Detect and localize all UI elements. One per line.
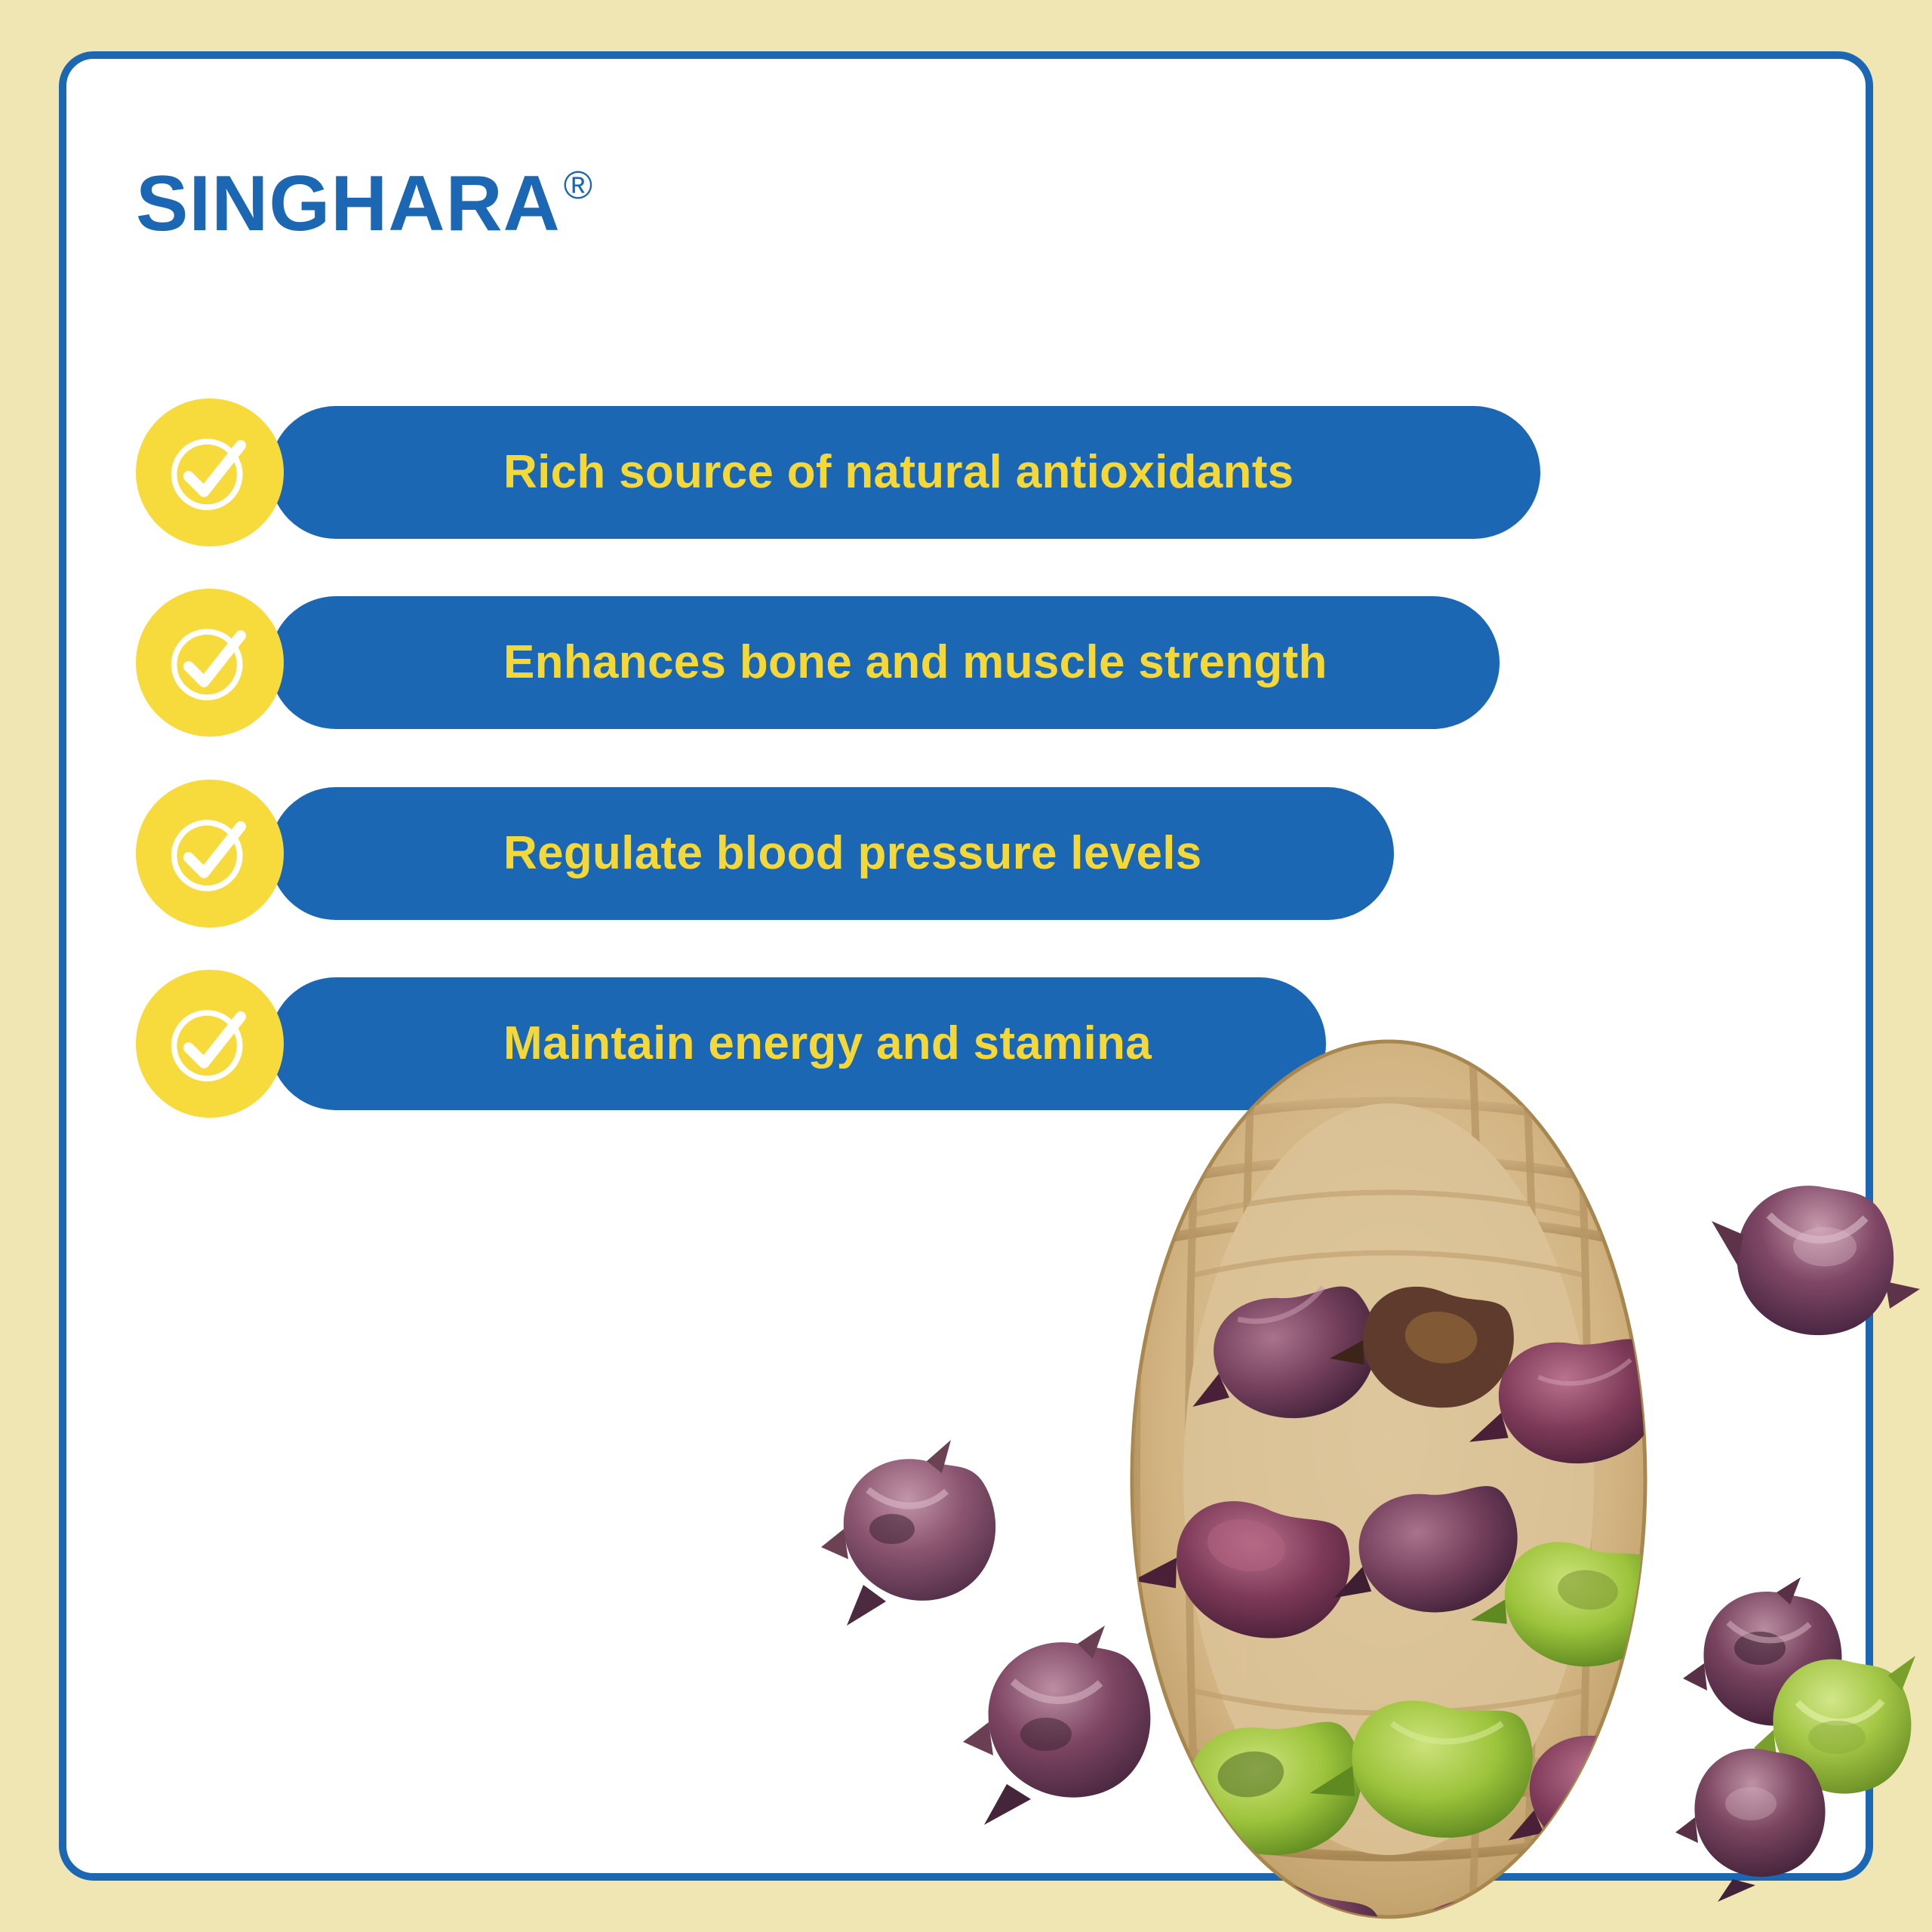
benefit-pill[interactable]: Rich source of natural antioxidants bbox=[269, 406, 1540, 539]
check-circle-icon bbox=[136, 589, 284, 737]
benefit-pill[interactable]: Regulate blood pressure levels bbox=[269, 787, 1394, 920]
benefit-pill[interactable]: Maintain energy and stamina bbox=[269, 977, 1326, 1110]
poster-canvas: SINGHARA® Rich source of natural antioxi… bbox=[0, 0, 1932, 1932]
benefit-label: Regulate blood pressure levels bbox=[503, 830, 1202, 877]
benefits-list: Rich source of natural antioxidants Enha… bbox=[0, 0, 1932, 1932]
benefit-label: Rich source of natural antioxidants bbox=[503, 449, 1294, 496]
benefit-label: Enhances bone and muscle strength bbox=[503, 639, 1327, 686]
check-circle-icon bbox=[136, 780, 284, 928]
benefit-pill[interactable]: Enhances bone and muscle strength bbox=[269, 596, 1500, 729]
benefit-label: Maintain energy and stamina bbox=[503, 1020, 1152, 1067]
check-circle-icon bbox=[136, 398, 284, 546]
check-circle-icon bbox=[136, 970, 284, 1118]
